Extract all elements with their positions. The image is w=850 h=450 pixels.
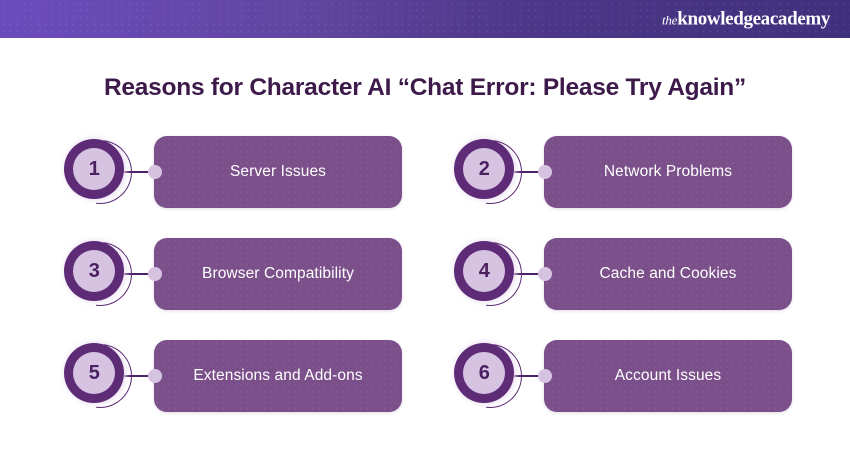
badge-inner-circle: 4 bbox=[463, 250, 505, 292]
badge-inner-circle: 2 bbox=[463, 148, 505, 190]
reason-card: Server Issues bbox=[154, 136, 402, 208]
badge-number-label: 2 bbox=[479, 159, 490, 179]
reason-card-label: Server Issues bbox=[216, 163, 340, 181]
badge-number-label: 5 bbox=[89, 363, 100, 383]
reason-card: Cache and Cookies bbox=[544, 238, 792, 310]
brand-logo: theknowledgeacademy bbox=[662, 10, 830, 29]
reason-card: Extensions and Add-ons bbox=[154, 340, 402, 412]
reason-item: 5 Extensions and Add-ons bbox=[62, 340, 402, 412]
reason-item: 3 Browser Compatibility bbox=[62, 238, 402, 310]
number-badge: 2 bbox=[452, 136, 524, 208]
connector-dot bbox=[148, 165, 162, 179]
number-badge: 5 bbox=[62, 340, 134, 412]
badge-number-label: 4 bbox=[479, 261, 490, 281]
number-badge: 4 bbox=[452, 238, 524, 310]
reason-item: 2 Network Problems bbox=[452, 136, 792, 208]
number-badge: 3 bbox=[62, 238, 134, 310]
reason-card-label: Extensions and Add-ons bbox=[179, 367, 376, 385]
reason-item: 6 Account Issues bbox=[452, 340, 792, 412]
page-header: theknowledgeacademy bbox=[0, 0, 850, 38]
connector-dot bbox=[538, 369, 552, 383]
logo-main-text: knowledgeacademy bbox=[677, 9, 830, 30]
reasons-grid: 1 Server Issues 2 Network Problems bbox=[62, 136, 792, 412]
badge-number-label: 6 bbox=[479, 363, 490, 383]
connector-dot bbox=[538, 165, 552, 179]
badge-inner-circle: 5 bbox=[73, 352, 115, 394]
badge-number-label: 3 bbox=[89, 261, 100, 281]
connector-dot bbox=[148, 267, 162, 281]
connector-dot bbox=[538, 267, 552, 281]
badge-inner-circle: 6 bbox=[463, 352, 505, 394]
badge-inner-circle: 3 bbox=[73, 250, 115, 292]
badge-inner-circle: 1 bbox=[73, 148, 115, 190]
connector-dot bbox=[148, 369, 162, 383]
reason-card-label: Browser Compatibility bbox=[188, 265, 368, 283]
reason-card-label: Account Issues bbox=[601, 367, 736, 385]
badge-number-label: 1 bbox=[89, 159, 100, 179]
reason-card: Account Issues bbox=[544, 340, 792, 412]
logo-prefix-text: the bbox=[662, 13, 677, 28]
number-badge: 1 bbox=[62, 136, 134, 208]
reason-card-label: Network Problems bbox=[590, 163, 746, 181]
reason-item: 1 Server Issues bbox=[62, 136, 402, 208]
reason-card: Network Problems bbox=[544, 136, 792, 208]
reason-item: 4 Cache and Cookies bbox=[452, 238, 792, 310]
number-badge: 6 bbox=[452, 340, 524, 412]
reason-card: Browser Compatibility bbox=[154, 238, 402, 310]
page-title: Reasons for Character AI “Chat Error: Pl… bbox=[0, 74, 850, 102]
reason-card-label: Cache and Cookies bbox=[586, 265, 751, 283]
